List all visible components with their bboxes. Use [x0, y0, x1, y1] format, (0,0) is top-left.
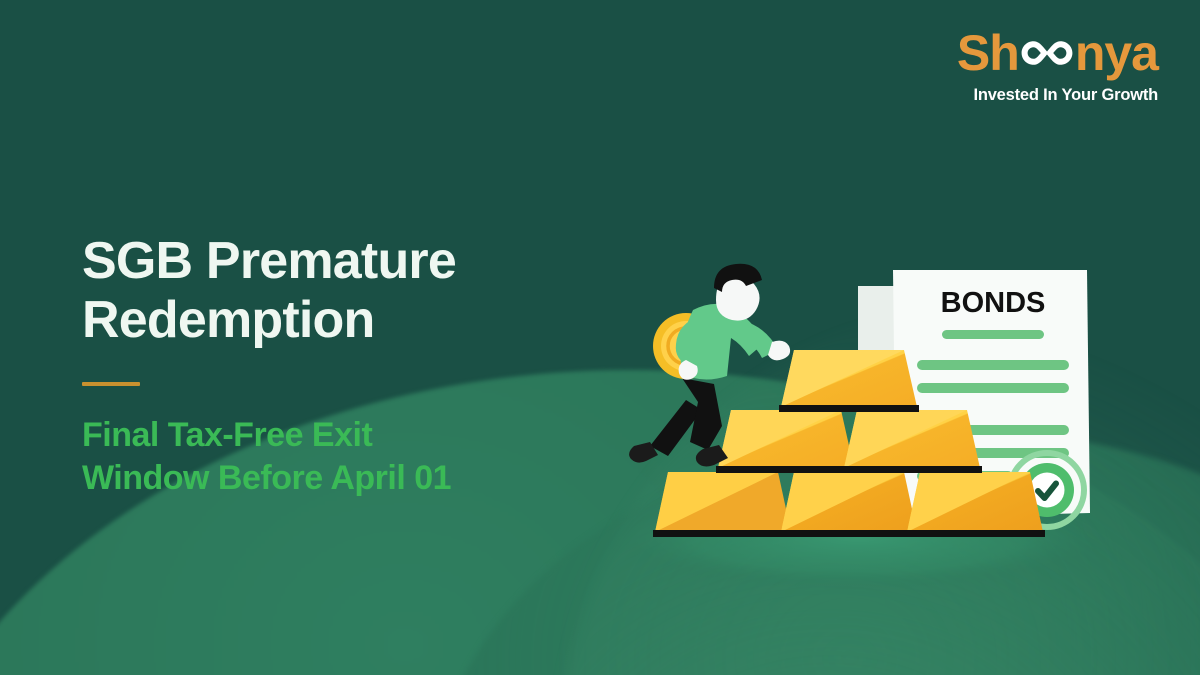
headline-block: SGB Premature Redemption Final Tax-Free …	[82, 232, 602, 501]
slide-canvas: Sh nya Invested In Your Growth SGB Prema…	[0, 0, 1200, 675]
page-subtitle: Final Tax-Free Exit Window Before April …	[82, 414, 602, 501]
logo-word-prefix: Sh	[957, 28, 1019, 78]
gold-bar	[779, 472, 919, 537]
brand-logo[interactable]: Sh nya Invested In Your Growth	[957, 28, 1158, 104]
accent-divider	[82, 382, 140, 386]
gold-bar-row-middle	[716, 410, 982, 473]
title-line-2: Redemption	[82, 291, 602, 350]
gold-bar	[905, 472, 1045, 537]
logo-word-suffix: nya	[1075, 28, 1158, 78]
bonds-title: BONDS	[941, 287, 1046, 319]
logo-wordmark: Sh nya	[957, 28, 1158, 78]
gold-bar	[842, 410, 982, 473]
subtitle-line-2: Window Before April 01	[82, 457, 602, 501]
gold-bar	[779, 350, 919, 412]
gold-bar-row-top	[779, 350, 919, 412]
infinity-icon	[1020, 35, 1074, 71]
title-line-1: SGB Premature	[82, 232, 602, 291]
illustration: BONDS	[590, 250, 1200, 610]
gold-bar	[653, 472, 793, 537]
gold-bar	[716, 410, 856, 473]
logo-tagline: Invested In Your Growth	[957, 87, 1158, 104]
gold-bar-row-bottom	[653, 472, 1045, 537]
page-title: SGB Premature Redemption	[82, 232, 602, 351]
subtitle-line-1: Final Tax-Free Exit	[82, 414, 602, 458]
